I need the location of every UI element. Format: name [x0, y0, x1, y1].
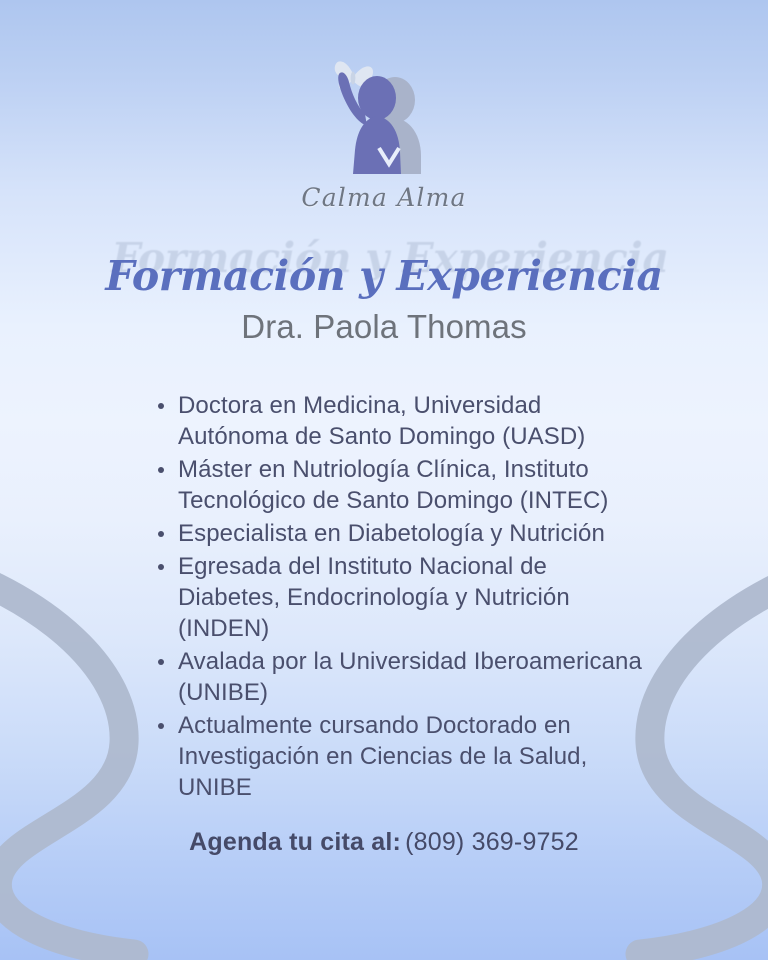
contact-line: Agenda tu cita al:(809) 369-9752 — [0, 828, 768, 857]
brand-logo: Calma Alma — [0, 52, 768, 212]
list-item: Especialista en Diabetología y Nutrición — [150, 518, 650, 549]
list-item: Doctora en Medicina, Universidad Autónom… — [150, 390, 650, 452]
calma-alma-logo-mark — [309, 52, 459, 187]
list-item: Egresada del Instituto Nacional de Diabe… — [150, 551, 650, 644]
headline-stack: Formación y Experiencia Formación y Expe… — [105, 252, 662, 300]
headline-block: Formación y Experiencia Formación y Expe… — [0, 252, 768, 346]
contact-phone-number[interactable]: (809) 369-9752 — [405, 828, 579, 856]
poster-canvas: Calma Alma Formación y Experiencia Forma… — [0, 0, 768, 960]
page-title: Formación y Experiencia — [105, 252, 662, 300]
list-item: Actualmente cursando Doctorado en Invest… — [150, 710, 650, 803]
list-item: Avalada por la Universidad Iberoamerican… — [150, 646, 650, 708]
list-item: Máster en Nutriología Clínica, Instituto… — [150, 454, 650, 516]
credentials-list: Doctora en Medicina, Universidad Autónom… — [150, 390, 650, 805]
brand-wordmark: Calma Alma — [0, 183, 768, 212]
page-subtitle: Dra. Paola Thomas — [0, 308, 768, 346]
contact-label: Agenda tu cita al: — [189, 828, 401, 856]
